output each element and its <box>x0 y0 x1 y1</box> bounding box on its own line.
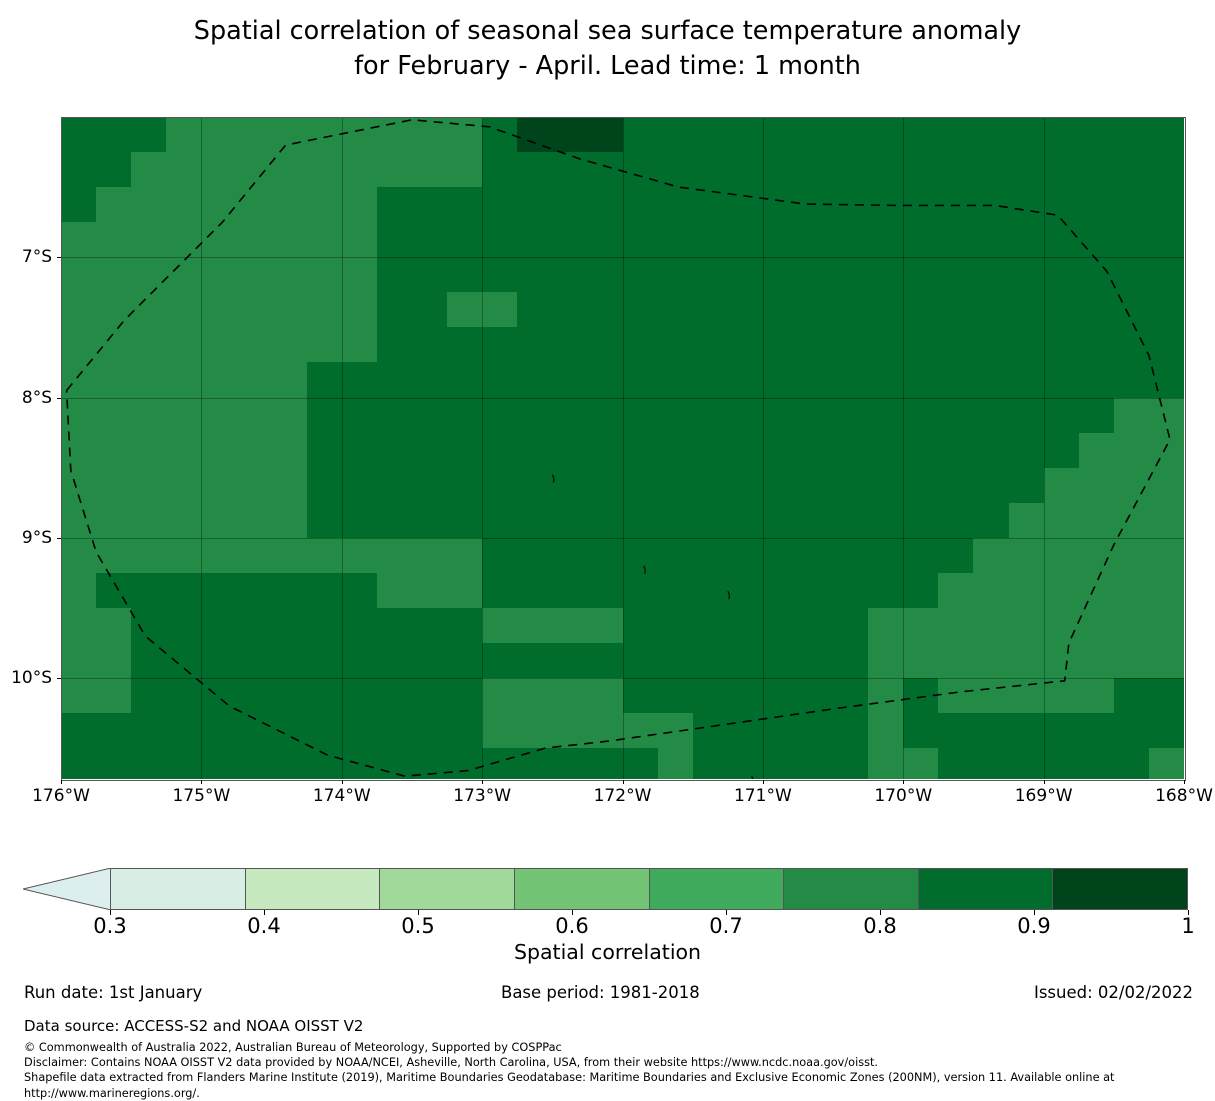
x-axis-tick-label: 173°W <box>453 786 511 806</box>
x-axis-tick-label: 168°W <box>1155 786 1213 806</box>
y-axis-tick-label: 10°S <box>11 668 52 688</box>
x-axis-tick-mark <box>903 780 904 784</box>
x-axis-tick-label: 172°W <box>594 786 652 806</box>
colorbar-band[interactable] <box>515 869 650 909</box>
colorbar-tick-mark <box>1188 910 1189 915</box>
issued-date-text: Issued: 02/02/2022 <box>1034 983 1193 1002</box>
colorbar-tick-label: 0.9 <box>1017 914 1050 938</box>
x-axis-tick-mark <box>342 780 343 784</box>
colorbar-band[interactable] <box>246 869 381 909</box>
colorbar-band[interactable] <box>380 869 515 909</box>
colorbar-tick-label: 0.4 <box>247 914 280 938</box>
colorbar-tick-label: 0.7 <box>709 914 742 938</box>
disclaimer-text: © Commonwealth of Australia 2022, Austra… <box>24 1040 1114 1101</box>
x-axis-tick-mark <box>201 780 202 784</box>
colorbar-region: 0.30.40.50.60.70.80.91 Spatial correlati… <box>0 860 1215 960</box>
colorbar-tick-mark <box>110 910 111 915</box>
island-mark <box>552 475 554 483</box>
island-mark <box>644 566 646 574</box>
colorbar-band[interactable] <box>650 869 785 909</box>
colorbar-tick-label: 1 <box>1181 914 1194 938</box>
island-mark <box>752 776 754 779</box>
x-axis-tick-label: 176°W <box>32 786 90 806</box>
run-date-text: Run date: 1st January <box>24 983 202 1002</box>
footer-region: Run date: 1st January Base period: 1981-… <box>0 983 1215 1009</box>
colorbar-tick-label: 0.8 <box>863 914 896 938</box>
colorbar-tick-mark <box>572 910 573 915</box>
x-axis-tick-mark <box>623 780 624 784</box>
y-axis-tick-label: 8°S <box>22 388 52 408</box>
colorbar-min-extend-arrow <box>23 868 111 910</box>
colorbar-band[interactable] <box>1053 869 1187 909</box>
colorbar-tick-mark <box>418 910 419 915</box>
colorbar-tick-label: 0.5 <box>401 914 434 938</box>
x-axis-tick-mark <box>763 780 764 784</box>
colorbar-band[interactable] <box>919 869 1054 909</box>
y-axis-tick-mark <box>57 678 61 679</box>
colorbar-tick-mark <box>1034 910 1035 915</box>
island-mark <box>728 591 730 599</box>
colorbar-axis-label: Spatial correlation <box>0 940 1215 964</box>
y-axis-tick-label: 9°S <box>22 528 52 548</box>
colorbar-band[interactable] <box>111 869 246 909</box>
data-source-text: Data source: ACCESS-S2 and NOAA OISST V2 <box>24 1017 363 1035</box>
x-axis-tick-label: 174°W <box>313 786 371 806</box>
x-axis-tick-label: 171°W <box>734 786 792 806</box>
x-axis-tick-label: 169°W <box>1015 786 1073 806</box>
x-axis-tick-mark <box>1044 780 1045 784</box>
y-axis-tick-label: 7°S <box>22 247 52 267</box>
colorbar-bands[interactable] <box>110 868 1188 910</box>
x-axis-tick-mark <box>1184 780 1185 784</box>
colorbar-tick-label: 0.6 <box>555 914 588 938</box>
base-period-text: Base period: 1981-2018 <box>501 983 700 1002</box>
x-axis-tick-label: 170°W <box>874 786 932 806</box>
y-axis-tick-mark <box>57 398 61 399</box>
colorbar-tick-label: 0.3 <box>93 914 126 938</box>
map-plot-area[interactable] <box>61 117 1184 779</box>
x-axis-tick-mark <box>61 780 62 784</box>
x-axis-tick-mark <box>482 780 483 784</box>
x-axis-tick-label: 175°W <box>172 786 230 806</box>
colorbar-tick-mark <box>264 910 265 915</box>
colorbar-tick-mark <box>726 910 727 915</box>
colorbar-band[interactable] <box>784 869 919 909</box>
y-axis-tick-mark <box>57 538 61 539</box>
island-coastline-marks <box>61 117 1184 779</box>
colorbar-tick-mark <box>880 910 881 915</box>
y-axis-tick-mark <box>57 257 61 258</box>
page-title: Spatial correlation of seasonal sea surf… <box>0 14 1215 84</box>
